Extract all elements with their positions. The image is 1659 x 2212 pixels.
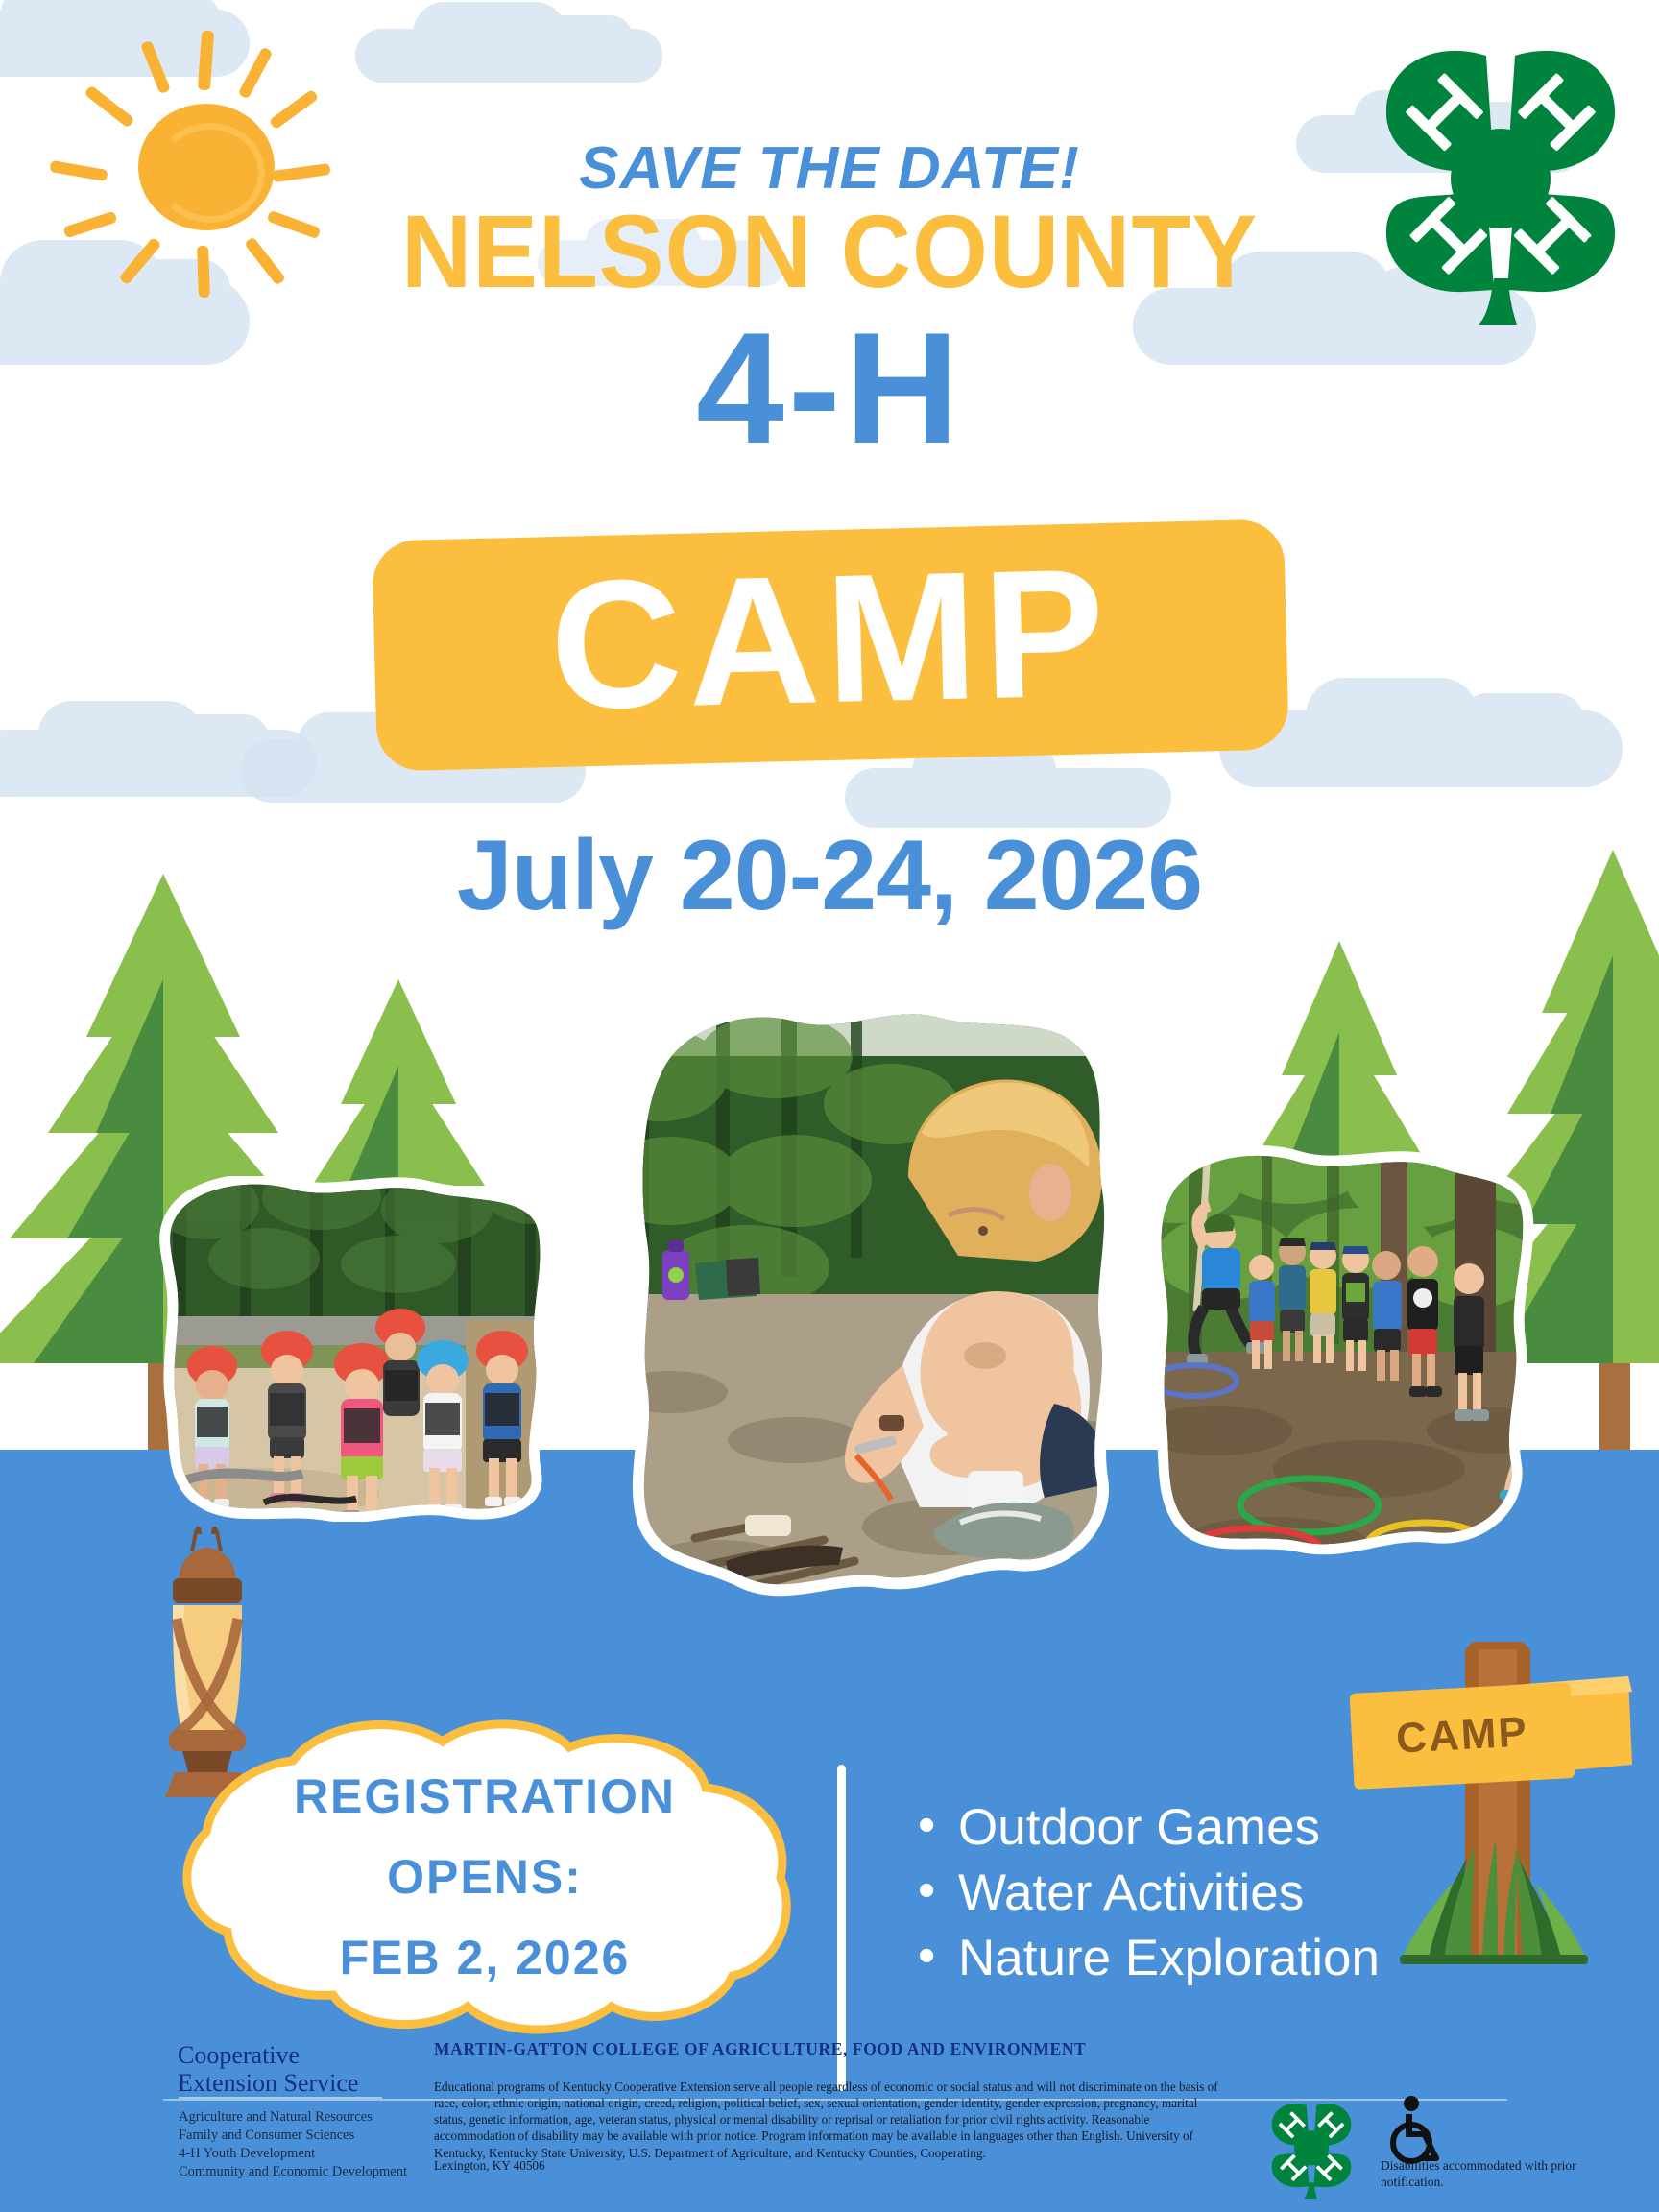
extension-program-list: Agriculture and Natural Resources Family… — [179, 2108, 467, 2182]
cloud-shape — [355, 29, 662, 83]
photo-1-frame — [149, 1176, 562, 1522]
camp-sign-label: CAMP — [1395, 1708, 1529, 1763]
county-heading: NELSON COUNTY — [50, 200, 1609, 303]
footer-clover-svg — [1258, 2099, 1365, 2199]
list-item: 4-H Youth Development — [179, 2145, 467, 2163]
coop-title-rule — [179, 2097, 382, 2099]
sun-ray — [269, 89, 319, 131]
list-item: Family and Consumer Sciences — [179, 2127, 467, 2145]
photo-climbing-group — [149, 1176, 562, 1522]
list-item: Community and Economic Development — [179, 2163, 467, 2181]
sun-ray — [238, 46, 274, 99]
photo-3-frame — [1139, 1142, 1542, 1594]
coop-title-line-2: Extension Service — [178, 2069, 427, 2097]
cooperative-extension-title: Cooperative Extension Service — [178, 2041, 427, 2097]
registration-line-2: OPENS: — [387, 1849, 583, 1905]
camp-banner: CAMP — [372, 518, 1289, 771]
sun-ray — [140, 40, 171, 94]
camp-banner-label: CAMP — [548, 541, 1113, 737]
wheelchair-svg — [1382, 2095, 1450, 2166]
nondiscrimination-disclaimer: Educational programs of Kentucky Coopera… — [434, 2079, 1231, 2161]
camp-signpost: CAMP — [1344, 1642, 1659, 2045]
sun-ray — [198, 31, 214, 91]
photo-hoop-games — [1139, 1142, 1542, 1594]
four-h-heading: 4-H — [0, 309, 1659, 468]
poster-root: 18 USC 707 SAVE THE DATE! NELSON COUNTY … — [0, 0, 1659, 2212]
photo-2-frame — [603, 989, 1141, 1661]
college-heading: MARTIN-GATTON COLLEGE OF AGRICULTURE, FO… — [434, 2039, 1221, 2059]
accessibility-caption: Disabilities accommodated with prior not… — [1381, 2158, 1592, 2191]
registration-callout: REGISTRATION OPENS: FEB 2, 2026 — [168, 1719, 802, 2035]
accessibility-wheelchair-icon — [1382, 2095, 1450, 2166]
list-item: Agriculture and Natural Resources — [179, 2108, 467, 2127]
registration-line-1: REGISTRATION — [294, 1768, 676, 1824]
four-h-clover-footer-icon — [1258, 2099, 1365, 2199]
photo-fire-building — [603, 989, 1141, 1661]
camp-sign-board: CAMP — [1350, 1682, 1575, 1790]
coop-title-line-1: Cooperative — [178, 2041, 427, 2069]
sun-ray — [84, 84, 134, 128]
registration-line-3: FEB 2, 2026 — [340, 1930, 631, 1985]
cloud-shape — [845, 768, 1171, 828]
city-line: Lexington, KY 40506 — [434, 2158, 545, 2174]
registration-text: REGISTRATION OPENS: FEB 2, 2026 — [168, 1719, 802, 2035]
